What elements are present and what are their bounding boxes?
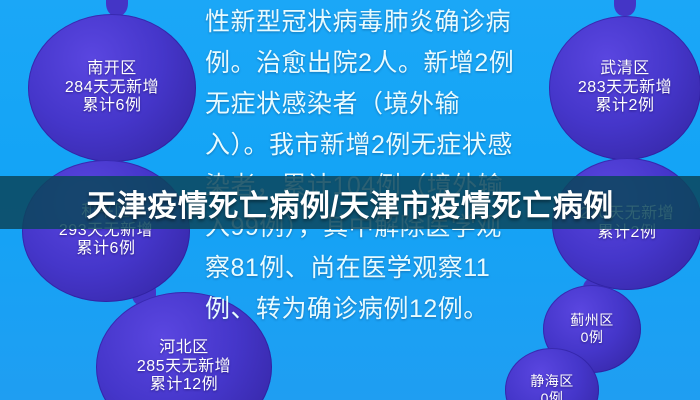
district-days: 283天无新增 bbox=[578, 79, 672, 98]
overlay-banner: 天津疫情死亡病例/天津市疫情死亡病例 bbox=[0, 176, 700, 229]
district-total: 0例 bbox=[541, 390, 564, 400]
screenshot-root: 南开区 284天无新增 累计6例 和平区 293天无新增 累计6例 河北区 28… bbox=[0, 0, 700, 400]
district-total: 0例 bbox=[581, 329, 604, 346]
report-paragraph: 性新型冠状病毒肺炎确诊病 例。治愈出院2人。新增2例 无症状感染者（境外输 入）… bbox=[205, 2, 550, 330]
report-line: 察81例、尚在医学观察11 bbox=[205, 248, 550, 289]
district-total: 累计12例 bbox=[150, 376, 218, 395]
report-line: 性新型冠状病毒肺炎确诊病 bbox=[205, 2, 550, 43]
report-line: 例。治愈出院2人。新增2例 bbox=[205, 43, 550, 84]
district-total: 累计2例 bbox=[596, 97, 655, 116]
district-days: 284天无新增 bbox=[65, 79, 159, 98]
district-name: 武清区 bbox=[600, 60, 650, 79]
bubble-connector-right-top bbox=[614, 0, 636, 16]
report-line: 无症状感染者（境外输 bbox=[205, 84, 550, 125]
district-bubble-nankai[interactable]: 南开区 284天无新增 累计6例 bbox=[28, 14, 196, 162]
district-total: 累计6例 bbox=[83, 97, 142, 116]
district-days: 285天无新增 bbox=[137, 358, 231, 377]
report-line: 入）。我市新增2例无症状感 bbox=[205, 125, 550, 166]
banner-title: 天津疫情死亡病例/天津市疫情死亡病例 bbox=[86, 181, 613, 225]
district-name: 蓟州区 bbox=[570, 312, 614, 329]
district-name: 河北区 bbox=[159, 339, 209, 358]
district-bubble-wuqing[interactable]: 武清区 283天无新增 累计2例 bbox=[549, 16, 700, 160]
district-name: 静海区 bbox=[530, 373, 574, 390]
district-total: 累计6例 bbox=[77, 240, 136, 259]
district-name: 南开区 bbox=[87, 60, 137, 79]
report-line: 例、转为确诊病例12例。 bbox=[205, 289, 550, 330]
